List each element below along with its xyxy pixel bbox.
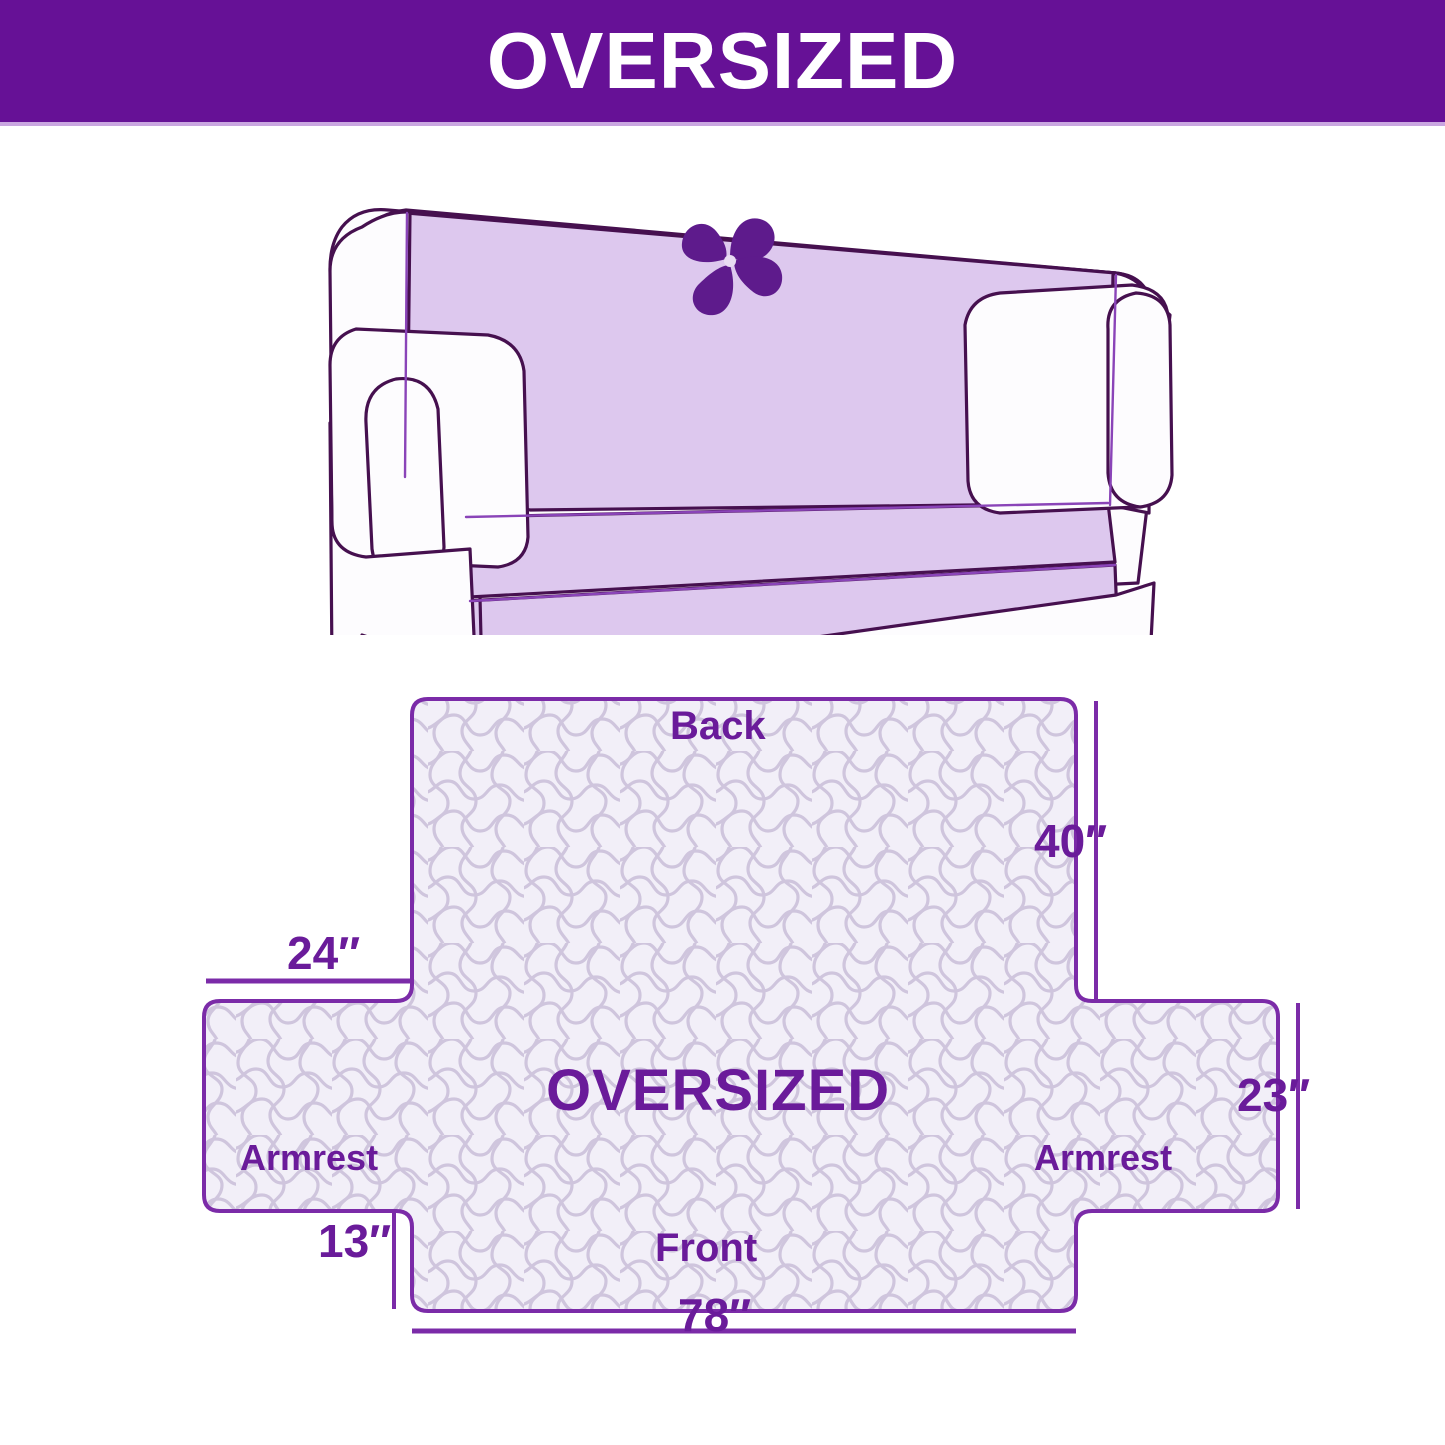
dimension-label-armrest-height: 23″	[1237, 1072, 1310, 1118]
diagram-product-label: OVERSIZED	[546, 1062, 890, 1120]
header-banner: OVERSIZED	[0, 0, 1445, 122]
panel-label-armrest-right: Armrest	[1034, 1140, 1172, 1176]
panel-label-back: Back	[670, 706, 766, 746]
panel-label-armrest-left: Armrest	[240, 1140, 378, 1176]
page-title: OVERSIZED	[487, 21, 958, 101]
dimension-label-front-offset: 13″	[318, 1218, 391, 1264]
panel-label-front: Front	[655, 1228, 757, 1268]
header-underline-divider	[0, 122, 1445, 126]
dimension-label-back-offset: 24″	[287, 930, 360, 976]
dimension-label-back-height: 40″	[1034, 818, 1107, 864]
dimension-label-total-width: 78″	[678, 1292, 751, 1338]
sofa-illustration: .ol { fill:none; stroke:#46104f; stroke-…	[270, 165, 1190, 635]
